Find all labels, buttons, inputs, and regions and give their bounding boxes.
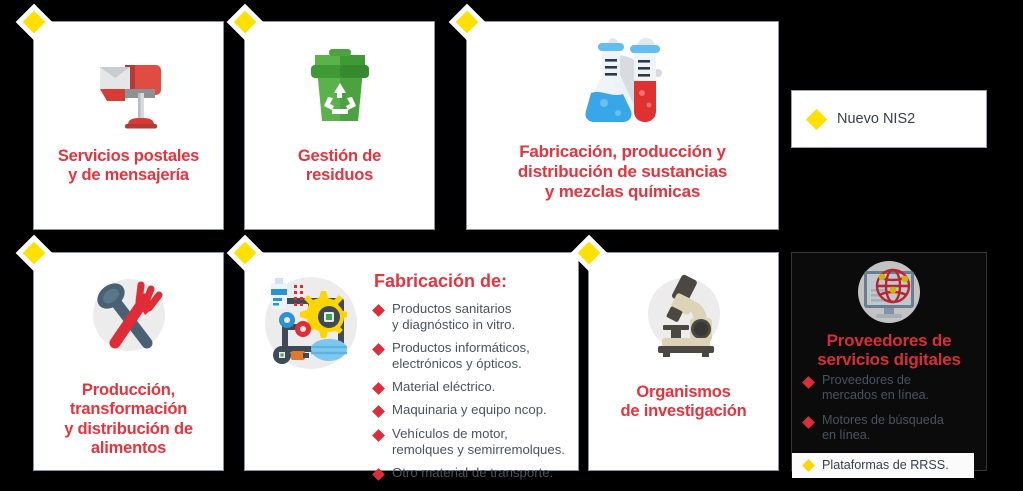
card-organismos-investigacion[interactable]: Organismos de investigación xyxy=(588,252,779,471)
list-item-line: Vehículos de motor, xyxy=(392,426,508,441)
card-title-line-2: de investigación xyxy=(620,402,746,420)
list-item-line: electrónicos y ópticos. xyxy=(392,356,522,371)
card-title-line-1: Servicios postales xyxy=(58,147,199,165)
manufacturing-title: Fabricación de: xyxy=(374,271,568,292)
card-title: Organismos de investigación xyxy=(620,383,746,422)
list-item-text: Otro material de transporte. xyxy=(392,465,553,481)
card-title-line-1: Fabricación, producción y xyxy=(519,142,726,161)
card-fabricacion-de[interactable]: Fabricación de: Productos sanitarios y d… xyxy=(244,252,579,471)
red-diamond-bullet-icon xyxy=(372,343,385,356)
card-title-line-2: y de mensajería xyxy=(68,166,189,184)
manufacturing-items-list: Productos sanitarios y diagnóstico in vi… xyxy=(374,301,568,481)
card-title-line-3: y mezclas químicas xyxy=(545,182,700,201)
card-produccion-alimentos[interactable]: Producción, transformación y distribució… xyxy=(33,252,224,471)
list-item-line: y diagnóstico in vitro. xyxy=(392,317,515,332)
card-servicios-postales[interactable]: Servicios postales y de mensajería xyxy=(33,21,224,230)
microscope-icon xyxy=(589,253,778,383)
card-title-line-1: Organismos xyxy=(636,383,730,401)
monitor-globe-icon xyxy=(792,259,986,329)
list-item-text: Material eléctrico. xyxy=(392,379,495,395)
digital-items-list: Proveedores de mercados en línea. Motore… xyxy=(792,373,986,487)
legend-nuevo-nis2: Nuevo NIS2 xyxy=(791,90,987,148)
list-item: Otro material de transporte. xyxy=(374,465,568,481)
card-title-line-2: residuos xyxy=(306,166,373,184)
infographic-canvas: Nuevo NIS2 Servicios postales y de mensa… xyxy=(0,0,1023,491)
list-item-text: Productos sanitarios y diagnóstico in vi… xyxy=(392,301,515,333)
red-diamond-bullet-icon xyxy=(372,468,385,481)
red-diamond-bullet-icon xyxy=(372,406,385,419)
list-item-line: Productos sanitarios xyxy=(392,301,511,316)
red-diamond-bullet-icon xyxy=(372,429,385,442)
list-item: Motores de búsqueda en línea. xyxy=(804,413,986,444)
red-diamond-bullet-icon xyxy=(802,416,815,429)
list-item-line: remolques y semirremolques. xyxy=(392,442,565,457)
yellow-diamond-bullet-icon xyxy=(802,459,815,472)
list-item-text: Plataformas de RRSS. xyxy=(822,458,949,473)
mailbox-icon xyxy=(34,22,223,147)
red-diamond-bullet-icon xyxy=(372,304,385,317)
card-title-line-1: Producción, xyxy=(82,381,175,399)
yellow-diamond-icon xyxy=(806,108,827,129)
card-title: Proveedores de servicios digitales xyxy=(817,331,961,369)
legend-label: Nuevo NIS2 xyxy=(837,111,915,127)
list-item-line: Proveedores de xyxy=(822,373,911,387)
list-item-highlighted: Plataformas de RRSS. xyxy=(792,453,974,478)
card-title-line-3: y distribución de xyxy=(64,420,193,438)
card-gestion-residuos[interactable]: Gestión de residuos xyxy=(244,21,435,230)
list-item: Vehículos de motor, remolques y semirrem… xyxy=(374,426,568,458)
list-item-text: Maquinaria y equipo ncop. xyxy=(392,402,547,418)
list-item-text: Motores de búsqueda en línea. xyxy=(822,413,944,444)
card-proveedores-servicios-digitales[interactable]: Proveedores de servicios digitales Prove… xyxy=(791,252,987,471)
card-title: Gestión de residuos xyxy=(298,147,381,186)
card-title-line-1: Gestión de xyxy=(298,147,381,165)
list-item-text: Vehículos de motor, remolques y semirrem… xyxy=(392,426,565,458)
list-item: Maquinaria y equipo ncop. xyxy=(374,402,568,418)
card-title-line-2: servicios digitales xyxy=(817,350,961,369)
list-item: Proveedores de mercados en línea. xyxy=(804,373,986,404)
list-item: Material eléctrico. xyxy=(374,379,568,395)
card-title-line-4: alimentos xyxy=(91,439,166,457)
card-title: Servicios postales y de mensajería xyxy=(58,147,199,186)
card-sustancias-quimicas[interactable]: Fabricación, producción y distribución d… xyxy=(466,21,779,230)
card-title-line-2: transformación xyxy=(70,400,187,418)
red-diamond-bullet-icon xyxy=(372,383,385,396)
list-item-line: Productos informáticos, xyxy=(392,340,530,355)
card-title: Producción, transformación y distribució… xyxy=(64,381,193,459)
list-item: Productos sanitarios y diagnóstico in vi… xyxy=(374,301,568,333)
card-title: Fabricación, producción y distribución d… xyxy=(518,142,727,202)
list-item-line: mercados en línea. xyxy=(822,388,929,402)
card-title-line-2: distribución de sustancias xyxy=(518,162,727,181)
red-diamond-bullet-icon xyxy=(802,376,815,389)
chemistry-flasks-icon xyxy=(467,22,778,142)
spoon-fork-icon xyxy=(34,253,223,381)
manufacturing-list-body: Fabricación de: Productos sanitarios y d… xyxy=(368,263,568,488)
gear-manufacturing-icon xyxy=(253,263,368,379)
list-item-text: Proveedores de mercados en línea. xyxy=(822,373,929,404)
list-item-line: en línea. xyxy=(822,428,870,442)
card-title-line-1: Proveedores de xyxy=(827,331,952,350)
list-item-text: Productos informáticos, electrónicos y ó… xyxy=(392,340,530,372)
list-item: Productos informáticos, electrónicos y ó… xyxy=(374,340,568,372)
recycling-bin-icon xyxy=(245,22,434,147)
list-item-line: Motores de búsqueda xyxy=(822,413,944,427)
